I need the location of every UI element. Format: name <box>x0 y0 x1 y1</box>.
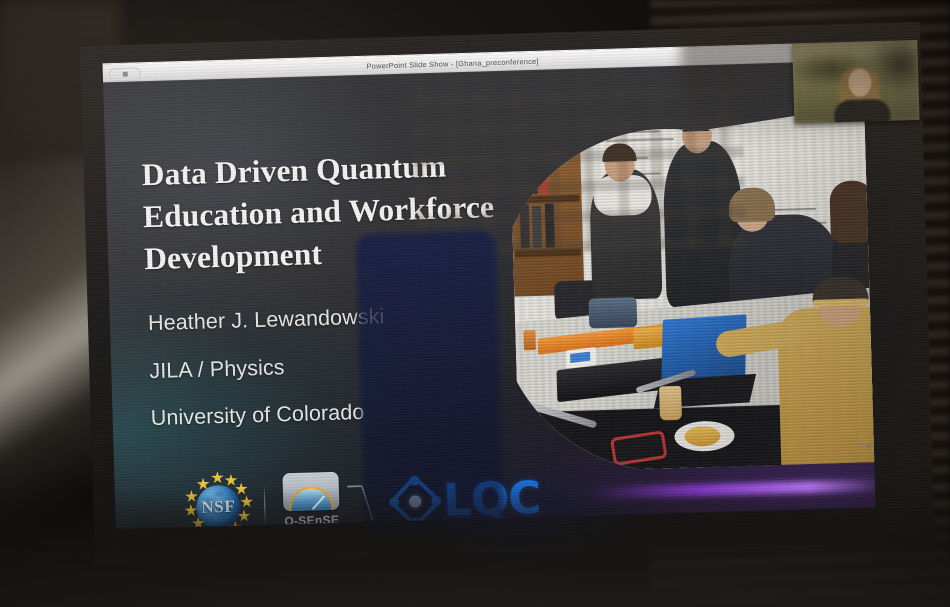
atom-icon <box>390 476 441 527</box>
window-menu-icon[interactable] <box>109 67 141 81</box>
presenter-affiliation: JILA / Physics <box>149 350 529 382</box>
logo-divider <box>264 485 266 527</box>
window-title-text: PowerPoint Slide Show - [Ghana_preconfer… <box>366 57 538 71</box>
lqc-wordmark: LQC <box>443 478 541 521</box>
presenter-institution: University of Colorado <box>150 397 530 429</box>
nsf-logo: NSF <box>182 471 254 529</box>
powerpoint-slide[interactable]: Data Driven Quantum Education and Workfo… <box>103 60 876 529</box>
photographed-monitor-scene: PowerPoint Slide Show - [Ghana_preconfer… <box>0 0 950 607</box>
qsense-tile <box>282 472 339 512</box>
gauge-icon <box>289 486 334 511</box>
monitor-screen: PowerPoint Slide Show - [Ghana_preconfer… <box>80 22 935 566</box>
slide-glow-bottom-right <box>585 479 876 500</box>
gauge-needle <box>312 495 325 510</box>
presenter-block: Heather J. Lewandowski JILA / Physics Un… <box>148 302 532 455</box>
webcam-video-thumbnail[interactable] <box>792 40 919 124</box>
presenter-name: Heather J. Lewandowski <box>148 302 528 334</box>
webcam-scanline-overlay <box>792 40 919 124</box>
qsense-logo: Q-SEnSE quantum systems through entangle… <box>275 472 347 530</box>
slide-title: Data Driven Quantum Education and Workfo… <box>141 142 574 280</box>
chevron-right-icon <box>347 485 374 521</box>
